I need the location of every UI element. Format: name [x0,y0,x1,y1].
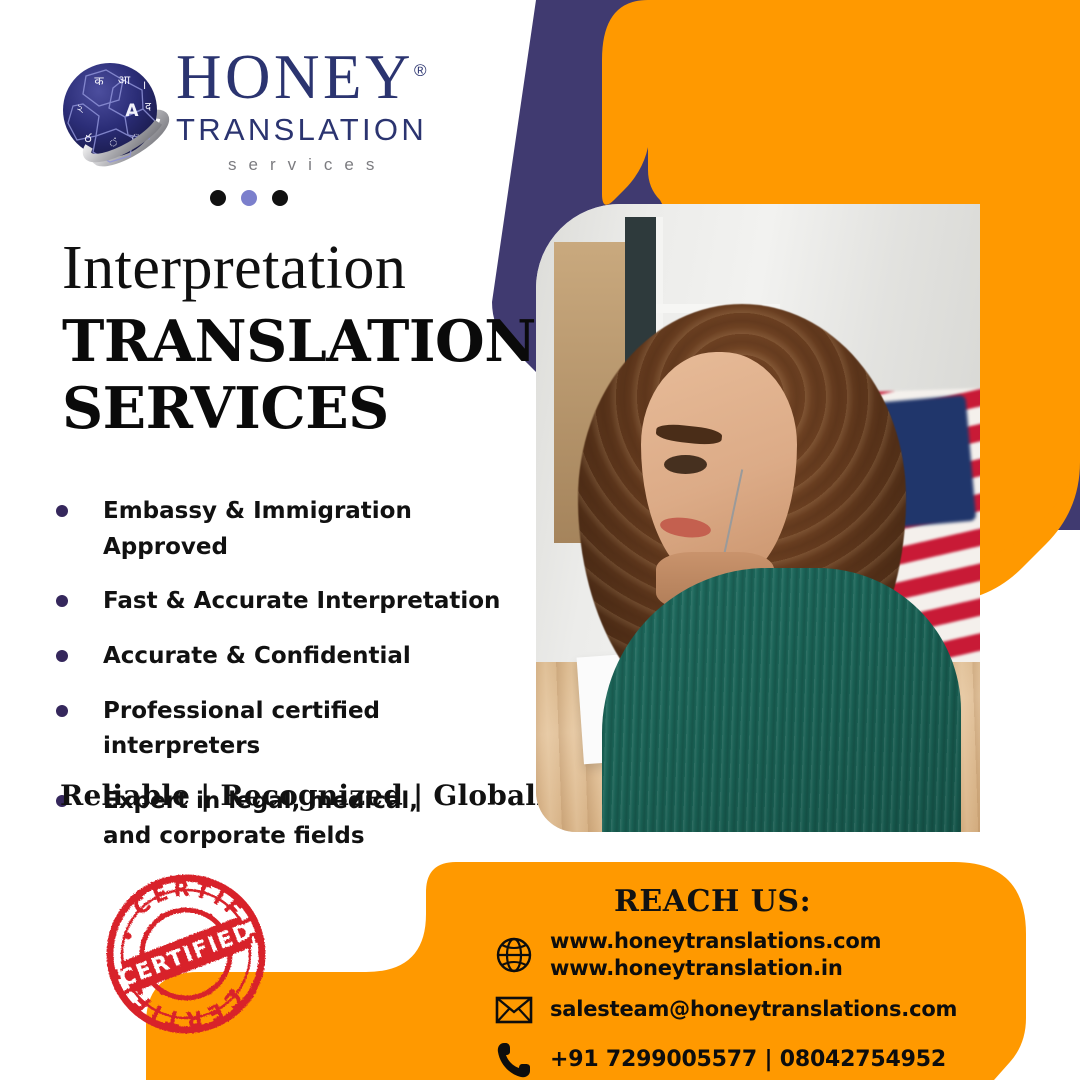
feature-list: Embassy & Immigration Approved Fast & Ac… [56,494,526,874]
list-item: Embassy & Immigration Approved [56,494,526,565]
svg-text:A: A [125,101,139,121]
dot-purple-center [241,190,257,206]
contact-row-website[interactable]: www.honeytranslations.com www.honeytrans… [492,928,1052,982]
website-values: www.honeytranslations.com www.honeytrans… [550,928,881,982]
svg-text:।: । [142,78,147,92]
dot-black-right [272,190,288,206]
svg-text:்: ் [109,135,120,149]
headline-group: Interpretation TRANSLATION SERVICES [62,236,532,442]
svg-text:द: द [145,100,151,113]
certified-stamp: CERTIFIED CERTIFIED CERTIFIED [104,872,268,1036]
feature-text: Embassy & Immigration Approved [103,494,526,565]
list-item: Accurate & Confidential [56,639,526,675]
reach-us-heading: REACH US: [614,884,811,919]
bullet-dot-icon [56,595,68,607]
headline-main-line1: TRANSLATION [62,309,532,376]
photo-eye [664,455,707,474]
bullet-dot-icon [56,650,68,662]
photo-person [563,304,954,832]
feature-text: Fast & Accurate Interpretation [103,584,500,620]
email-value[interactable]: salesteam@honeytranslations.com [550,996,957,1023]
logo-line-translation: TRANSLATION [176,111,476,150]
stamp-band-text: CERTIFIED [116,918,257,992]
brand-logo[interactable]: क आ । ২ ୸ A द ర ் া HONEY® TRANSLATION s… [52,46,472,186]
contact-details: www.honeytranslations.com www.honeytrans… [492,928,1052,1080]
contact-row-email[interactable]: salesteam@honeytranslations.com [492,988,1052,1032]
svg-text:आ: आ [118,73,131,87]
contact-row-phone[interactable]: +91 7299005577 | 08042754952 [492,1038,1052,1080]
bullet-dot-icon [56,705,68,717]
headline-script-line: Interpretation [62,236,532,301]
svg-text:ర: ర [84,131,92,145]
registered-trademark-icon: ® [414,61,427,80]
headline-main-line2: SERVICES [62,376,532,443]
website-primary[interactable]: www.honeytranslations.com [550,928,881,955]
photo-content [536,204,980,832]
feature-text: Accurate & Confidential [103,639,411,675]
globe-icon [492,933,536,977]
list-item: Professional certified interpreters [56,694,526,765]
phone-value[interactable]: +91 7299005577 | 08042754952 [550,1046,946,1074]
poster-canvas: क आ । ২ ୸ A द ర ் া HONEY® TRANSLATION s… [0,0,1080,1080]
logo-name: HONEY [176,42,414,112]
logo-dots-divider [210,190,288,206]
language-globe-icon: क आ । ২ ୸ A द ర ் া [52,54,174,176]
dot-black-left [210,190,226,206]
bullet-dot-icon [56,505,68,517]
envelope-icon [492,988,536,1032]
logo-wordmark: HONEY® TRANSLATION services [176,46,476,177]
website-secondary[interactable]: www.honeytranslation.in [550,955,881,982]
svg-text:২: ২ [76,101,84,115]
logo-line-services: services [228,153,476,177]
phone-icon [492,1038,536,1080]
interpreter-photo [536,204,980,832]
svg-text:क: क [94,74,104,88]
list-item: Fast & Accurate Interpretation [56,584,526,620]
feature-text: Professional certified interpreters [103,694,526,765]
